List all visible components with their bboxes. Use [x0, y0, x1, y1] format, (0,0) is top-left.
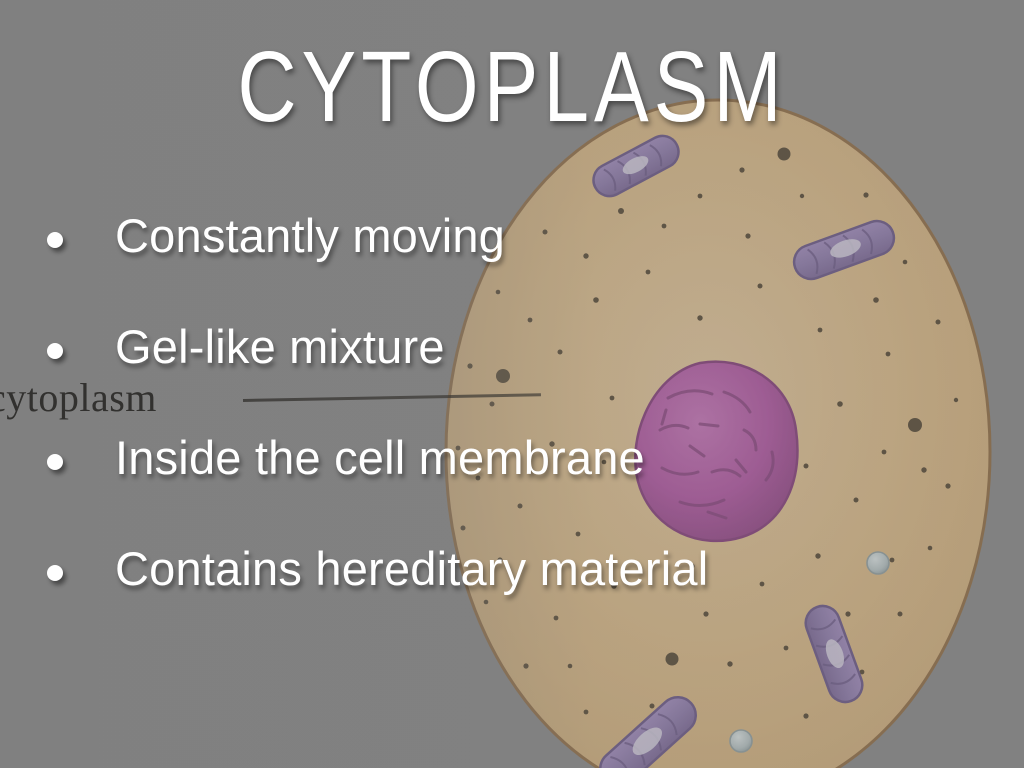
- list-item: Contains hereditary material: [42, 539, 982, 650]
- bullet-text: Inside the cell membrane: [115, 428, 645, 488]
- bullet-dot-icon: [47, 343, 63, 359]
- list-item: Constantly moving: [42, 206, 982, 317]
- list-item: Inside the cell membrane: [42, 428, 982, 539]
- bullet-text: Gel-like mixture: [115, 317, 445, 377]
- slide-canvas: cytoplasm CYTOPLASM Constantly moving Ge…: [0, 0, 1024, 768]
- bullet-dot-icon: [47, 565, 63, 581]
- list-item: Gel-like mixture: [42, 317, 982, 428]
- bullet-dot-icon: [47, 454, 63, 470]
- bullet-text: Contains hereditary material: [115, 539, 708, 599]
- bullet-dot-icon: [47, 232, 63, 248]
- bullet-text: Constantly moving: [115, 206, 505, 266]
- vesicle-bottom: [730, 730, 752, 752]
- bullet-list: Constantly moving Gel-like mixture Insid…: [42, 206, 982, 650]
- slide-title: CYTOPLASM: [0, 38, 1024, 138]
